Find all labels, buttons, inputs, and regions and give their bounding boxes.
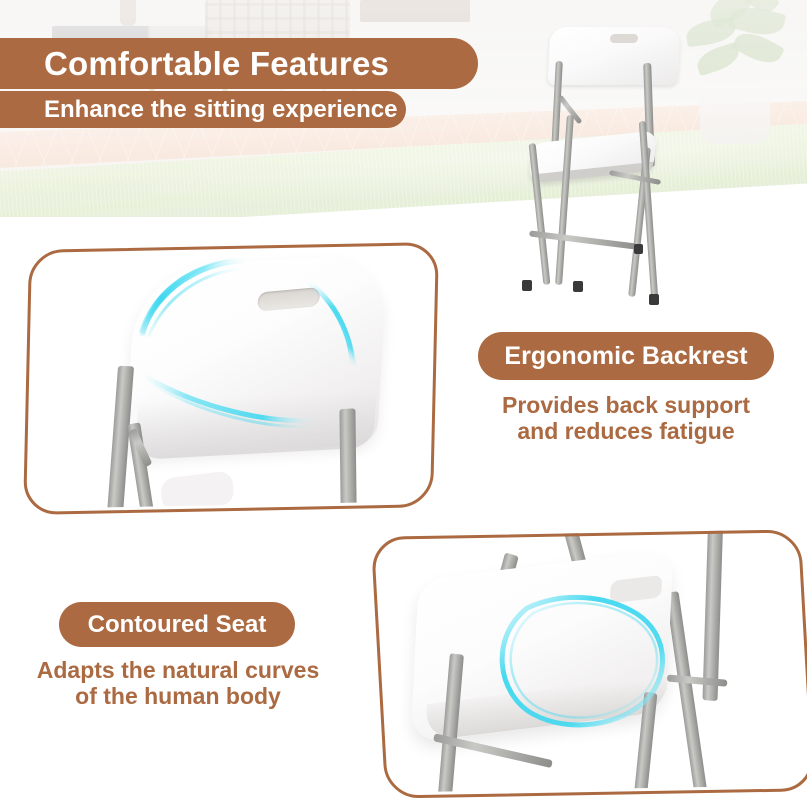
pill-ergonomic-backrest[interactable]: Ergonomic Backrest <box>478 332 774 380</box>
hero-foot-2 <box>573 281 583 292</box>
caption-ergonomic-backrest-line2: and reduces fatigue <box>458 418 794 444</box>
caption-ergonomic-backrest: Provides back support and reduces fatigu… <box>458 392 794 444</box>
caption-contoured-seat-line2: of the human body <box>13 683 343 709</box>
hero-folding-chair <box>505 25 725 335</box>
panel-ergonomic-backrest-frame <box>23 242 439 515</box>
pill-contoured-seat[interactable]: Contoured Seat <box>59 602 295 647</box>
hero-foot-3 <box>649 294 659 305</box>
pill-contoured-seat-label: Contoured Seat <box>88 613 267 637</box>
page-title: Comfortable Features <box>44 47 389 80</box>
pill-ergonomic-backrest-label: Ergonomic Backrest <box>504 344 747 369</box>
header-subtitle-bar: Enhance the sitting experience <box>0 91 406 128</box>
product-feature-graphic: Comfortable Features Enhance the sitting… <box>0 0 807 807</box>
header-title-bar: Comfortable Features <box>0 38 478 89</box>
caption-ergonomic-backrest-line1: Provides back support <box>458 392 794 418</box>
panel-contoured-seat-frame <box>371 529 807 798</box>
hero-foot-1 <box>522 280 532 291</box>
hero-backrest-handle-slot <box>610 34 638 43</box>
caption-contoured-seat-line1: Adapts the natural curves <box>13 657 343 683</box>
hero-foot-4 <box>634 244 643 254</box>
caption-contoured-seat: Adapts the natural curves of the human b… <box>13 657 343 709</box>
page-subtitle: Enhance the sitting experience <box>44 98 397 122</box>
